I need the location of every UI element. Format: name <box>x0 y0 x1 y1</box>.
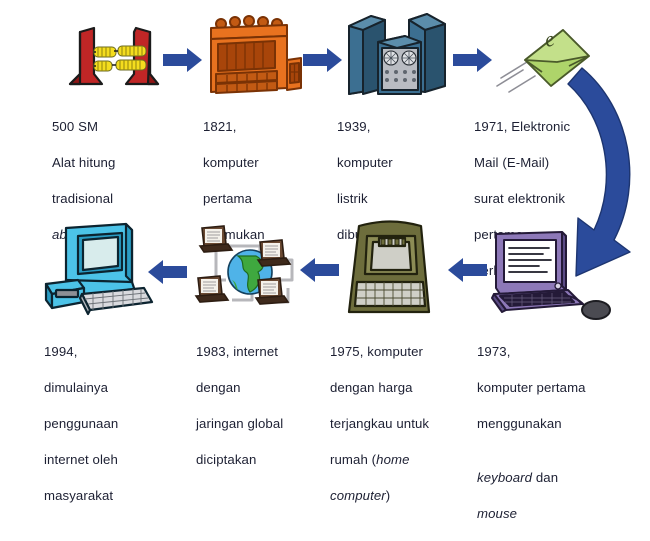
caption-line: pertama <box>203 190 323 208</box>
caption-line: diciptakan <box>196 451 336 469</box>
caption-line: dengan <box>196 379 336 397</box>
caption-italic-keyword: keyboard <box>477 470 532 485</box>
global-network-icon <box>192 218 310 318</box>
home-computer-icon <box>337 220 441 320</box>
caption-line: 1973, <box>477 343 637 361</box>
arrow-1939-to-1971 <box>453 48 493 72</box>
caption-line: penggunaan <box>44 415 194 433</box>
caption-line-mixed: rumah (home <box>330 451 482 469</box>
caption-1994: 1994, dimulainya penggunaan internet ole… <box>44 325 194 523</box>
caption-line: masyarakat <box>44 487 194 505</box>
caption-line: terjangkau untuk <box>330 415 482 433</box>
caption-line: komputer <box>203 154 323 172</box>
caption-1973: 1973, komputer pertama menggunakan keybo… <box>477 325 637 541</box>
timeline-diagram: 500 SM Alat hitung tradisional abacus <box>0 0 650 420</box>
caption-line: tradisional <box>52 190 192 208</box>
caption-1983: 1983, internet dengan jaringan global di… <box>196 325 336 487</box>
caption-line: 500 SM <box>52 118 192 136</box>
desktop-computer-icon <box>40 218 158 320</box>
caption-italic-keyword-2: mouse <box>477 505 637 523</box>
caption-italic-home: home <box>376 452 409 467</box>
abacus-icon <box>58 22 170 92</box>
laptop-mouse-icon <box>492 228 616 320</box>
arrow-1973-to-1975 <box>448 258 488 282</box>
caption-line: komputer pertama <box>477 379 637 397</box>
caption-line: dengan harga <box>330 379 482 397</box>
caption-line: 1983, internet <box>196 343 336 361</box>
caption-line: listrik <box>337 190 457 208</box>
caption-line: jaringan global <box>196 415 336 433</box>
caption-line: 1994, <box>44 343 194 361</box>
caption-line-mixed: keyboard dan <box>477 451 637 487</box>
caption-line-mixed: computer) <box>330 487 482 505</box>
arrow-abacus-to-1821 <box>163 48 203 72</box>
caption-line: 1975, komputer <box>330 343 482 361</box>
mainframe-icon <box>345 10 449 98</box>
caption-line: 1821, <box>203 118 323 136</box>
caption-line: menggunakan <box>477 415 637 433</box>
caption-line: dimulainya <box>44 379 194 397</box>
caption-1975: 1975, komputer dengan harga terjangkau u… <box>330 325 482 523</box>
caption-line: komputer <box>337 154 457 172</box>
caption-italic-computer: computer <box>330 488 386 503</box>
caption-line: 1939, <box>337 118 457 136</box>
mechanical-computer-icon <box>203 14 303 96</box>
caption-line: Alat hitung <box>52 154 192 172</box>
arrow-1821-to-1939 <box>303 48 343 72</box>
caption-line: internet oleh <box>44 451 194 469</box>
